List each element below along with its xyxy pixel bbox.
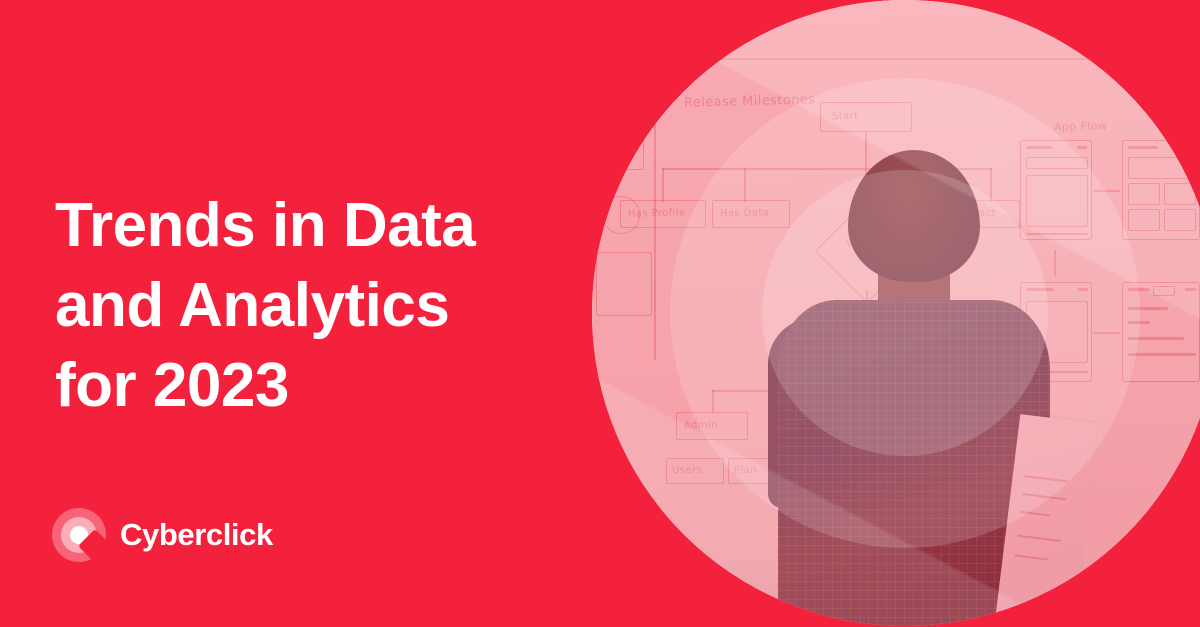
flow-connector: [712, 390, 714, 412]
person-back-view: [750, 150, 1070, 627]
brand-logo[interactable]: Cyberclick: [52, 505, 273, 565]
flow-node-users-label: Users: [672, 465, 702, 477]
whiteboard-photo: Release Milestones Start Has Profile Has…: [592, 0, 1200, 627]
margin-sketch-circle: [602, 196, 640, 234]
wireframe-screen-2: [1122, 140, 1200, 240]
page-title: Trends in Data and Analytics for 2023: [55, 186, 575, 426]
flow-connector: [662, 168, 664, 202]
margin-sketch: [596, 252, 652, 316]
whiteboard-top-edge: [592, 58, 1200, 60]
flow-node-start-label: Start: [832, 111, 859, 123]
social-share-card: Release Milestones Start Has Profile Has…: [0, 0, 1200, 627]
flow-connector: [744, 168, 746, 202]
wireframe-cluster-label: App Flow: [1054, 119, 1108, 133]
page-title-line-2: and Analytics: [55, 266, 575, 346]
page-title-line-3: for 2023: [55, 346, 575, 426]
hero-image-circle: Release Milestones Start Has Profile Has…: [592, 0, 1200, 627]
wireframe-arrow: [1094, 332, 1120, 334]
margin-sketch: [598, 116, 644, 170]
margin-divider: [654, 60, 656, 360]
target-circle-icon: [52, 508, 106, 562]
flow-node-admin-label: Admin: [684, 420, 718, 432]
wireframe-screen-4: [1122, 282, 1200, 382]
brand-wordmark: Cyberclick: [120, 517, 273, 553]
hair: [848, 150, 980, 282]
wireframe-arrow: [1094, 190, 1120, 192]
page-title-line-1: Trends in Data: [55, 186, 575, 266]
